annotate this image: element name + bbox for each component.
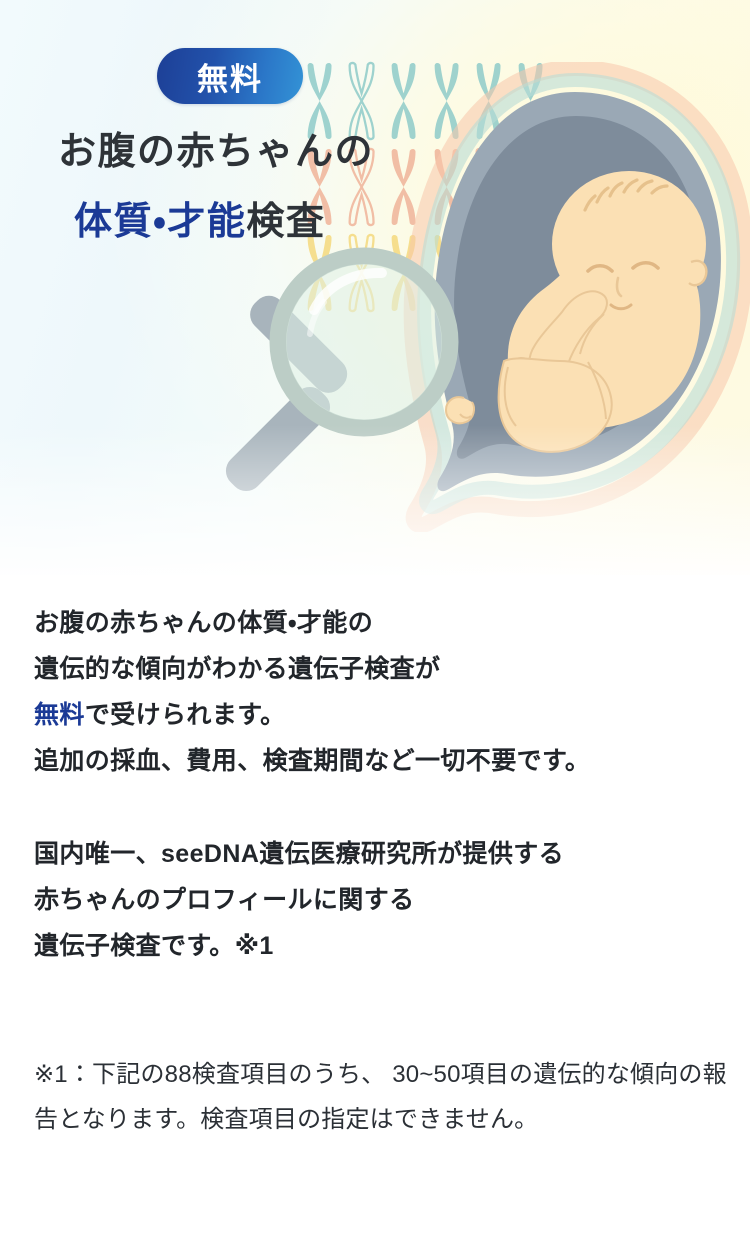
free-badge: 無料: [157, 48, 303, 104]
landing-page: 無料 お腹の赤ちゃんの 体質・才能検査 お腹の赤ちゃんの体質・才能の 遺伝的な傾…: [0, 0, 750, 1252]
free-accent-text: 無料: [34, 701, 85, 729]
paragraph-one-line2: 遺伝的な傾向がわかる遺伝子検査が: [34, 646, 724, 692]
paragraph-two-line3: 遺伝子検査です。※1: [34, 923, 724, 969]
paragraph-one-line3: 無料で受けられます。: [34, 692, 724, 738]
magnifying-glass-icon: [186, 242, 482, 506]
footnote-text: ※1：下記の88検査項目のうち、 30~50項目の遺伝的な傾向の報告となります。…: [34, 1052, 734, 1142]
page-title-line2: 体質・才能検査: [74, 190, 325, 245]
paragraph-spacer: [34, 784, 724, 831]
page-title-line1: お腹の赤ちゃんの: [58, 120, 374, 175]
paragraph-two-line2: 赤ちゃんのプロフィールに関する: [34, 877, 724, 923]
main-copy-section: お腹の赤ちゃんの体質・才能の 遺伝的な傾向がわかる遺伝子検査が 無料で受けられま…: [34, 600, 724, 969]
paragraph-one-line4: 追加の採血、費用、検査期間など一切不要です。: [34, 738, 724, 784]
page-title-accent: 体質・才能: [74, 201, 246, 243]
paragraph-two-line1: 国内唯一、seeDNA遺伝医療研究所が提供する: [34, 831, 724, 877]
paragraph-two: 国内唯一、seeDNA遺伝医療研究所が提供する 赤ちゃんのプロフィールに関する …: [34, 831, 724, 969]
paragraph-one: お腹の赤ちゃんの体質・才能の 遺伝的な傾向がわかる遺伝子検査が 無料で受けられま…: [34, 600, 724, 784]
page-title-plain: 検査: [246, 201, 325, 243]
paragraph-one-line3-rest: で受けられます。: [85, 701, 286, 729]
paragraph-one-line1: お腹の赤ちゃんの体質・才能の: [34, 600, 724, 646]
hero-section: 無料 お腹の赤ちゃんの 体質・才能検査: [0, 0, 750, 575]
